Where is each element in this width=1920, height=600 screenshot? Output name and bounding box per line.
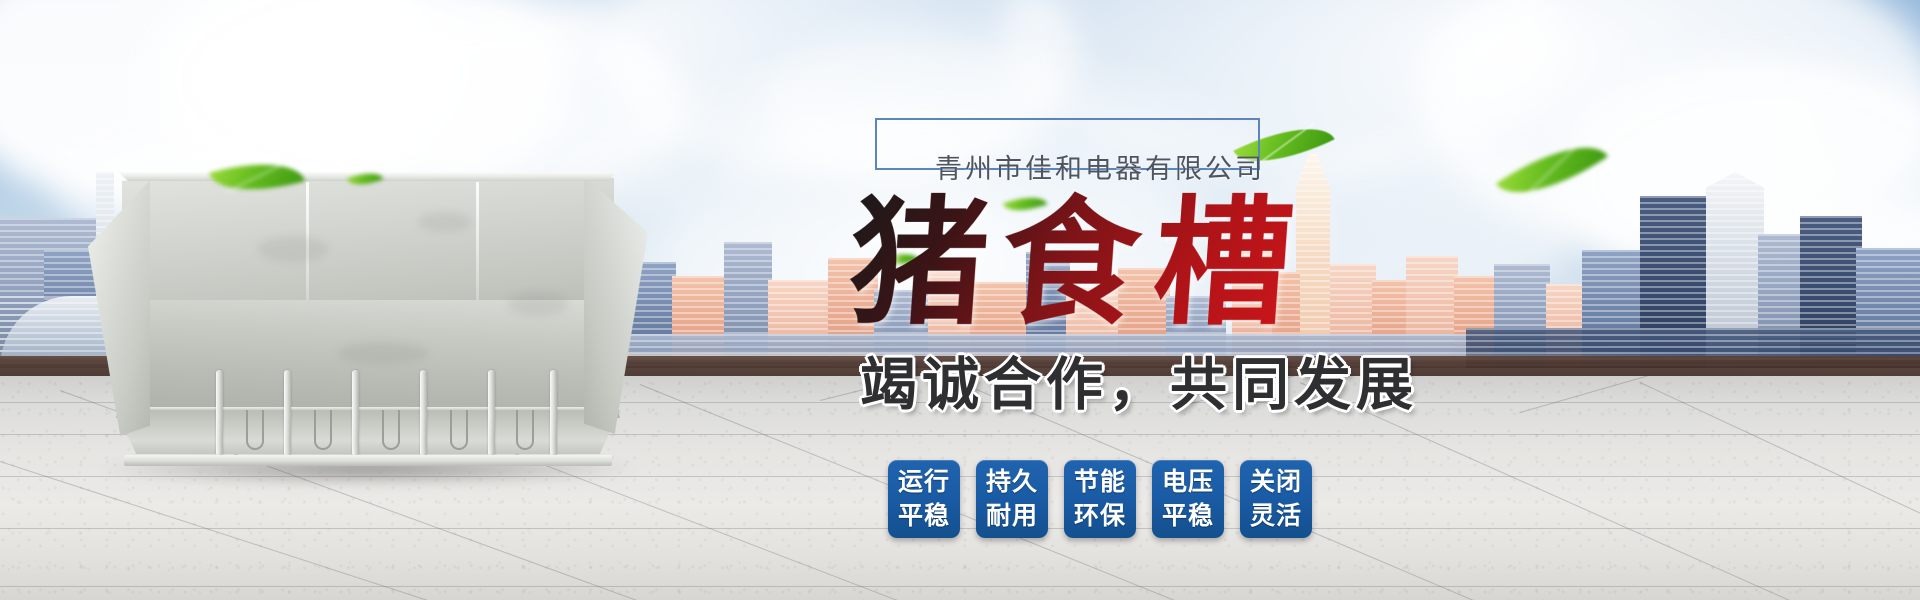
feature-badge-list: 运行 平稳 持久 耐用 节能 环保 电压 平稳 关闭 灵活 bbox=[888, 460, 1312, 538]
trough-divider bbox=[352, 370, 359, 456]
feature-badge-durable[interactable]: 持久 耐用 bbox=[976, 460, 1048, 538]
badge-line-2: 环保 bbox=[1074, 499, 1126, 533]
badge-line-1: 节能 bbox=[1074, 465, 1126, 499]
banner-subtitle: 竭诚合作，共同发展 bbox=[860, 350, 1540, 420]
feature-badge-stable-operation[interactable]: 运行 平稳 bbox=[888, 460, 960, 538]
product-image-pig-feeding-trough bbox=[88, 172, 648, 472]
trough-feed-hoop bbox=[516, 410, 534, 450]
feature-badge-energy-saving[interactable]: 节能 环保 bbox=[1064, 460, 1136, 538]
trough-left-panel bbox=[88, 180, 150, 436]
trough-seam bbox=[476, 182, 479, 302]
feature-badge-stable-voltage[interactable]: 电压 平稳 bbox=[1152, 460, 1224, 538]
trough-feed-hoop bbox=[450, 410, 468, 450]
badge-line-2: 平稳 bbox=[1162, 499, 1214, 533]
trough-feed-hoop bbox=[382, 410, 400, 450]
trough-divider bbox=[488, 370, 495, 456]
feature-badge-flexible-closing[interactable]: 关闭 灵活 bbox=[1240, 460, 1312, 538]
badge-line-1: 持久 bbox=[986, 465, 1038, 499]
trough-divider bbox=[284, 370, 291, 456]
promotional-banner: 青州市佳和电器有限公司 猪食槽 竭诚合作，共同发展 运行 平稳 持久 耐用 节能… bbox=[0, 0, 1920, 600]
badge-line-1: 运行 bbox=[898, 465, 950, 499]
trough-divider bbox=[216, 370, 223, 456]
badge-line-2: 平稳 bbox=[898, 499, 950, 533]
badge-line-2: 灵活 bbox=[1250, 499, 1302, 533]
banner-copy-block: 青州市佳和电器有限公司 猪食槽 竭诚合作，共同发展 运行 平稳 持久 耐用 节能… bbox=[700, 92, 1580, 562]
badge-line-1: 电压 bbox=[1162, 465, 1214, 499]
trough-right-panel bbox=[584, 176, 648, 434]
trough-feed-hoop bbox=[246, 410, 264, 450]
badge-line-2: 耐用 bbox=[986, 499, 1038, 533]
page-title: 猪食槽 bbox=[845, 188, 1495, 338]
trough-divider bbox=[550, 370, 557, 456]
trough-bottom-rail bbox=[124, 455, 612, 466]
trough-floor bbox=[116, 410, 620, 454]
badge-line-1: 关闭 bbox=[1250, 465, 1302, 499]
trough-feed-hoop bbox=[314, 410, 332, 450]
trough-divider bbox=[420, 370, 427, 456]
